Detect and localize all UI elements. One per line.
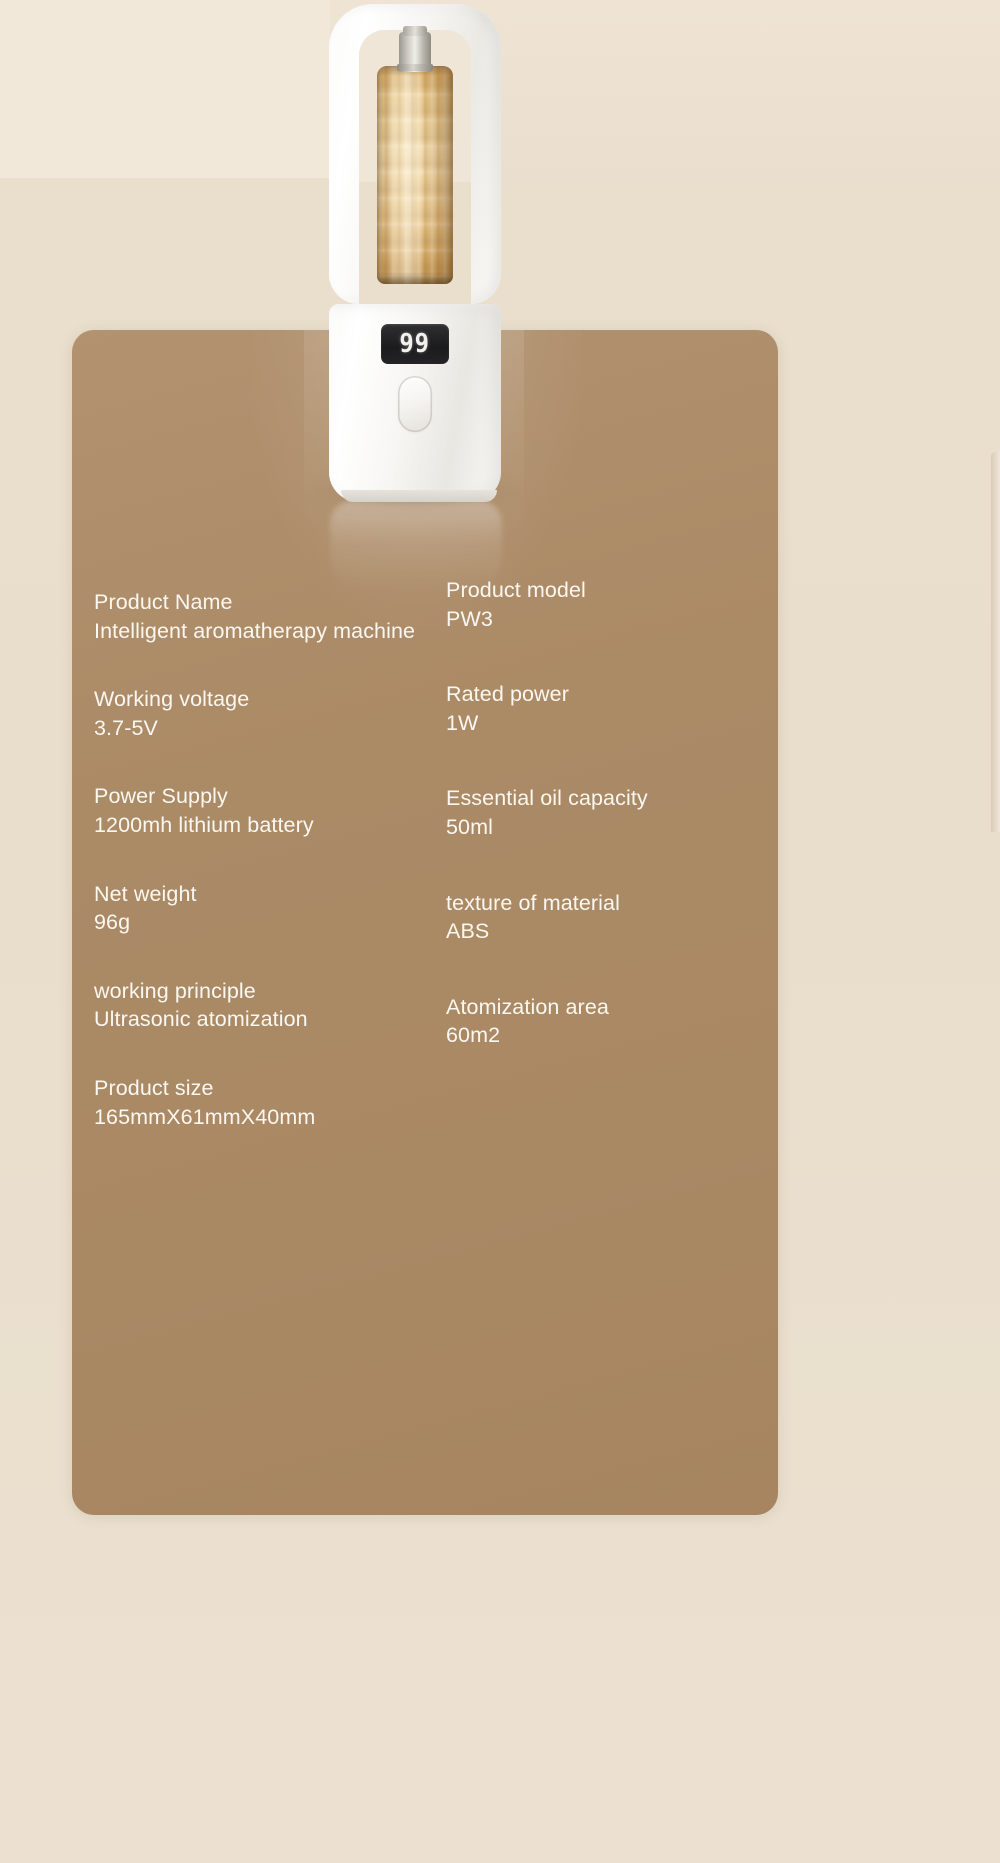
spec-label: Product size [94, 1074, 425, 1103]
power-button[interactable] [398, 376, 432, 432]
reservoir-bottom [377, 272, 453, 284]
spec-item-rated-power: Rated power 1W [446, 680, 756, 737]
reservoir-sheen [377, 66, 453, 284]
spec-value: ABS [446, 917, 756, 946]
product-spec-page: Product Name Intelligent aromatherapy ma… [0, 0, 1000, 1863]
spec-item-product-name: Product Name Intelligent aromatherapy ma… [94, 588, 425, 645]
spec-label: Product model [446, 576, 756, 605]
amber-glass-reservoir [377, 66, 453, 284]
spec-value: 96g [94, 908, 425, 937]
spec-item-power-supply: Power Supply 1200mh lithium battery [94, 782, 425, 839]
spec-item-product-model: Product model PW3 [446, 576, 756, 633]
device-body: 99 [325, 4, 505, 504]
spec-item-atomization-area: Atomization area 60m2 [446, 993, 756, 1050]
lcd-digits: 99 [400, 331, 431, 357]
spec-value: Intelligent aromatherapy machine [94, 617, 425, 646]
lcd-display: 99 [381, 324, 449, 364]
spec-value: PW3 [446, 605, 756, 634]
nozzle-cap [403, 26, 427, 36]
background-wall-left [0, 0, 330, 178]
spec-value: 1W [446, 709, 756, 738]
spec-label: working principle [94, 977, 425, 1006]
nozzle-ring [397, 64, 433, 71]
spec-label: Atomization area [446, 993, 756, 1022]
spec-label: Rated power [446, 680, 756, 709]
spec-item-oil-capacity: Essential oil capacity 50ml [446, 784, 756, 841]
spec-item-working-principle: working principle Ultrasonic atomization [94, 977, 425, 1034]
device-foot [341, 490, 497, 502]
spec-label: Essential oil capacity [446, 784, 756, 813]
spec-label: texture of material [446, 889, 756, 918]
spec-item-working-voltage: Working voltage 3.7-5V [94, 685, 425, 742]
spec-value: Ultrasonic atomization [94, 1005, 425, 1034]
spec-label: Product Name [94, 588, 425, 617]
spec-column-left: Product Name Intelligent aromatherapy ma… [94, 588, 425, 1171]
product-image: 99 [325, 0, 505, 512]
spec-value: 165mmX61mmX40mm [94, 1103, 425, 1132]
spec-value: 60m2 [446, 1021, 756, 1050]
spec-column-right: Product model PW3 Rated power 1W Essenti… [425, 576, 756, 1171]
spec-label: Power Supply [94, 782, 425, 811]
spec-value: 1200mh lithium battery [94, 811, 425, 840]
right-edge-sliver [991, 452, 1000, 832]
spec-item-net-weight: Net weight 96g [94, 880, 425, 937]
spec-item-material: texture of material ABS [446, 889, 756, 946]
spec-value: 3.7-5V [94, 714, 425, 743]
spec-value: 50ml [446, 813, 756, 842]
spec-label: Working voltage [94, 685, 425, 714]
spec-label: Net weight [94, 880, 425, 909]
spec-item-product-size: Product size 165mmX61mmX40mm [94, 1074, 425, 1131]
